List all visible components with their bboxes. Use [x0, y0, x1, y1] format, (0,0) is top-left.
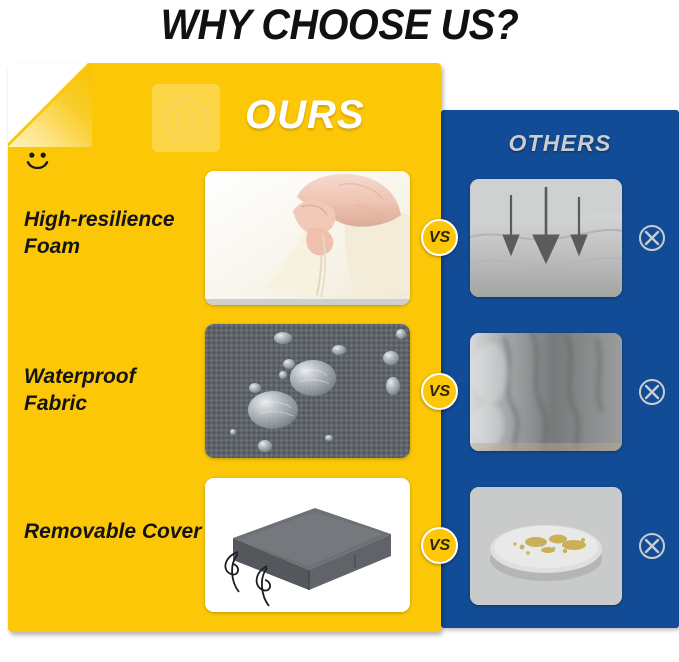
vs-badge-0: VS	[421, 219, 458, 256]
seat-cushion-with-ties-illustration	[205, 478, 410, 612]
circle-x-icon-2	[638, 532, 666, 560]
hand-squeezing-foam-illustration	[205, 171, 410, 305]
others-image-stained-cushion	[470, 487, 622, 605]
others-panel-label: OTHERS	[441, 130, 679, 156]
others-image-wet-fabric	[470, 333, 622, 451]
page-title: WHY CHOOSE US?	[27, 2, 652, 48]
circle-x-icon-0	[638, 224, 666, 252]
stained-round-cushion-illustration	[470, 487, 622, 605]
vs-badge-1: VS	[421, 373, 458, 410]
feature-label-0: High-resilience Foam	[24, 206, 204, 260]
ours-image-waterproof	[205, 324, 410, 458]
ours-panel-label: OURS	[245, 93, 365, 137]
vs-badge-2: VS	[421, 527, 458, 564]
circle-x-icon-1	[638, 378, 666, 406]
ours-image-removable-cover	[205, 478, 410, 612]
wet-fabric-illustration	[470, 333, 622, 451]
feature-label-1: Waterproof Fabric	[24, 363, 204, 417]
foam-compression-illustration	[470, 179, 622, 297]
feature-label-2: Removable Cover	[24, 518, 204, 545]
infographic-canvas: WHY CHOOSE US? OTHERS	[0, 0, 679, 662]
water-beads-on-fabric-illustration	[205, 324, 410, 458]
ours-image-foam	[205, 171, 410, 305]
smiley-face-icon	[20, 142, 55, 177]
others-image-compression	[470, 179, 622, 297]
home-pentagon-icon	[152, 84, 220, 152]
